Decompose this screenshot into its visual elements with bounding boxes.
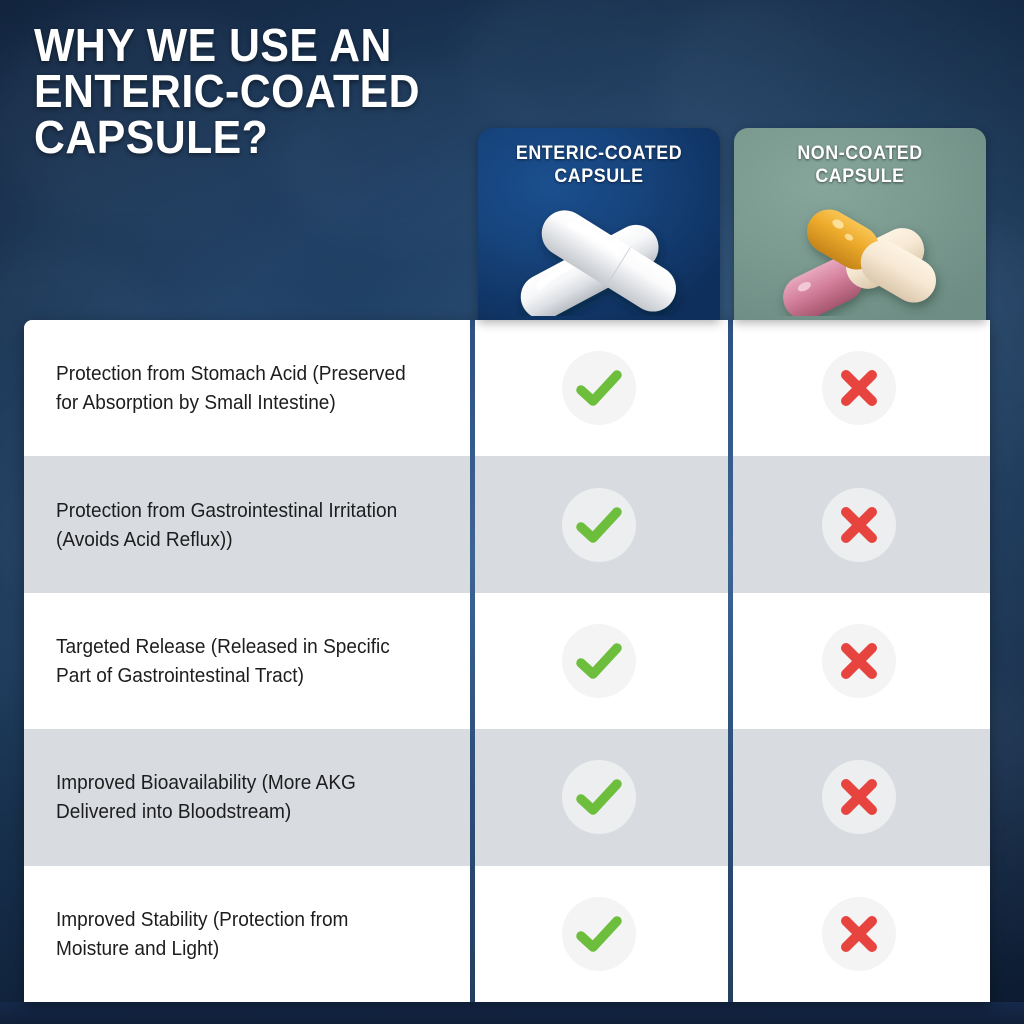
- table-row: Protection from Stomach Acid (Preserved …: [24, 320, 990, 456]
- cross-glyph: [839, 914, 879, 954]
- cross-glyph: [839, 505, 879, 545]
- noncoated-label-line-1: NON-COATED: [742, 142, 979, 165]
- column-divider-1: [470, 320, 475, 1002]
- row-benefit-cell: Protection from Gastrointestinal Irritat…: [24, 456, 470, 592]
- title-line-1: WHY WE USE AN: [34, 22, 471, 68]
- row-noncoated-cell: [728, 320, 990, 456]
- column-header-enteric-coated: ENTERIC-COATED CAPSULE: [478, 128, 720, 320]
- row-benefit-label: Targeted Release (Released in Specific P…: [56, 632, 413, 690]
- check-glyph: [576, 642, 622, 680]
- row-benefit-cell: Targeted Release (Released in Specific P…: [24, 593, 470, 729]
- check-mark-icon: [562, 897, 636, 971]
- comparison-table: Protection from Stomach Acid (Preserved …: [24, 320, 990, 1002]
- row-noncoated-cell: [728, 866, 990, 1002]
- cross-glyph: [839, 368, 879, 408]
- check-mark-icon: [562, 351, 636, 425]
- row-benefit-cell: Protection from Stomach Acid (Preserved …: [24, 320, 470, 456]
- column-divider-2: [728, 320, 733, 1002]
- row-enteric-cell: [470, 456, 728, 592]
- check-glyph: [576, 778, 622, 816]
- check-glyph: [576, 369, 622, 407]
- row-noncoated-cell: [728, 456, 990, 592]
- page-title: WHY WE USE AN ENTERIC-COATED CAPSULE?: [34, 22, 504, 160]
- bottom-strip: [0, 1002, 1024, 1024]
- row-noncoated-cell: [728, 593, 990, 729]
- cross-mark-icon: [822, 760, 896, 834]
- row-noncoated-cell: [728, 729, 990, 865]
- white-capsules-image: [499, 200, 699, 316]
- title-line-3: CAPSULE?: [34, 114, 471, 160]
- row-enteric-cell: [470, 593, 728, 729]
- enteric-label-line-1: ENTERIC-COATED: [485, 142, 712, 165]
- column-header-enteric-label: ENTERIC-COATED CAPSULE: [485, 142, 712, 188]
- row-enteric-cell: [470, 729, 728, 865]
- colored-capsules-image: [760, 200, 960, 316]
- check-mark-icon: [562, 488, 636, 562]
- table-row: Improved Bioavailability (More AKG Deliv…: [24, 729, 990, 865]
- cross-mark-icon: [822, 897, 896, 971]
- row-benefit-cell: Improved Stability (Protection from Mois…: [24, 866, 470, 1002]
- cross-glyph: [839, 777, 879, 817]
- check-glyph: [576, 915, 622, 953]
- infographic-root: WHY WE USE AN ENTERIC-COATED CAPSULE? EN…: [0, 0, 1024, 1024]
- column-header-non-coated: NON-COATED CAPSULE: [734, 128, 986, 320]
- title-line-2: ENTERIC-COATED: [34, 68, 471, 114]
- row-enteric-cell: [470, 866, 728, 1002]
- column-header-non-coated-label: NON-COATED CAPSULE: [742, 142, 979, 188]
- cross-mark-icon: [822, 351, 896, 425]
- table-row: Improved Stability (Protection from Mois…: [24, 866, 990, 1002]
- enteric-label-line-2: CAPSULE: [485, 165, 712, 188]
- check-glyph: [576, 506, 622, 544]
- cross-mark-icon: [822, 488, 896, 562]
- cross-mark-icon: [822, 624, 896, 698]
- table-row: Targeted Release (Released in Specific P…: [24, 593, 990, 729]
- row-benefit-label: Protection from Gastrointestinal Irritat…: [56, 496, 413, 554]
- table-row: Protection from Gastrointestinal Irritat…: [24, 456, 990, 592]
- check-mark-icon: [562, 760, 636, 834]
- check-mark-icon: [562, 624, 636, 698]
- cross-glyph: [839, 641, 879, 681]
- row-benefit-label: Improved Stability (Protection from Mois…: [56, 905, 413, 963]
- row-benefit-cell: Improved Bioavailability (More AKG Deliv…: [24, 729, 470, 865]
- noncoated-label-line-2: CAPSULE: [742, 165, 979, 188]
- row-enteric-cell: [470, 320, 728, 456]
- row-benefit-label: Improved Bioavailability (More AKG Deliv…: [56, 768, 413, 826]
- row-benefit-label: Protection from Stomach Acid (Preserved …: [56, 359, 413, 417]
